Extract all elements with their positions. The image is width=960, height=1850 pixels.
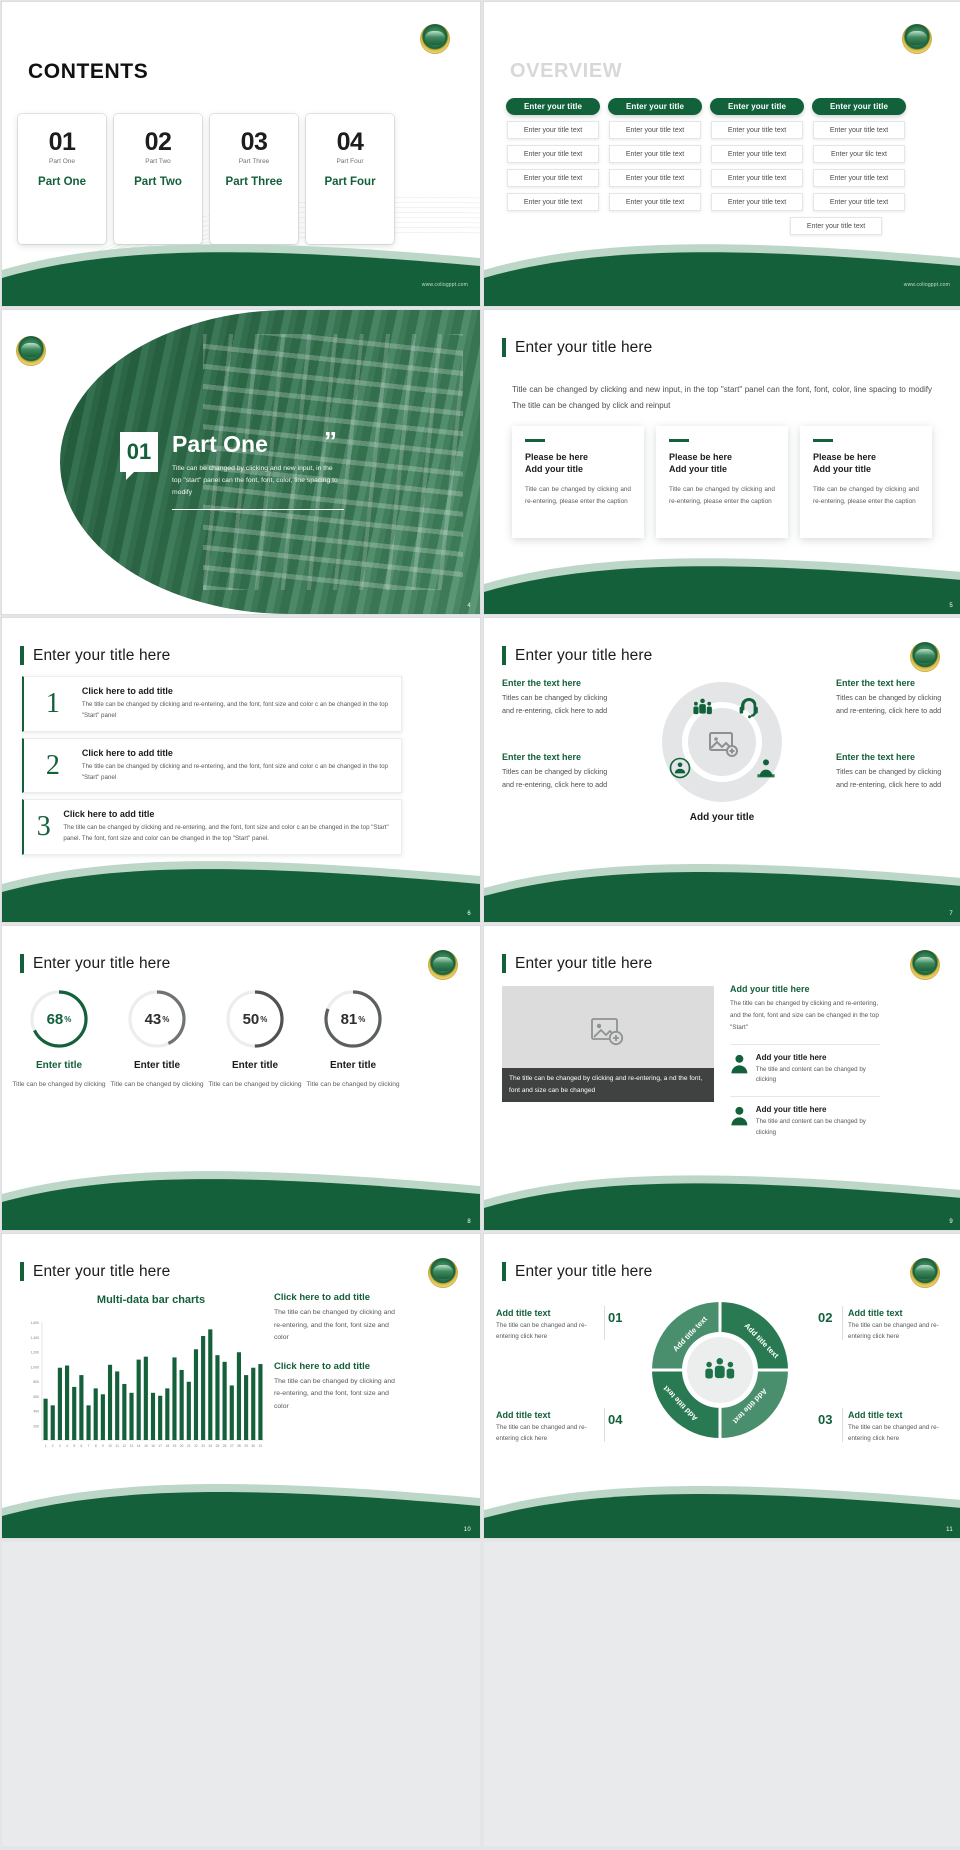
page-number: 11 <box>946 1527 953 1533</box>
callout-title: Add title text <box>496 1410 604 1420</box>
svg-text:1: 1 <box>45 1444 47 1448</box>
page-title: Enter your title here <box>515 339 652 357</box>
card-title: Please be here Add your title <box>813 451 919 475</box>
svg-text:10: 10 <box>108 1444 112 1448</box>
overview-cell[interactable]: Enter your title text <box>790 217 882 235</box>
side-body: The title can be changed by clicking and… <box>274 1376 402 1414</box>
overview-cell[interactable]: Enter your title text <box>507 193 599 211</box>
cycle-number: 04 <box>608 1412 622 1427</box>
side-block[interactable]: Click here to add title The title can be… <box>274 1361 402 1414</box>
segmented-wheel-diagram <box>656 676 788 808</box>
svg-text:9: 9 <box>102 1444 104 1448</box>
side-panel: Click here to add title The title can be… <box>274 1292 402 1413</box>
donut-stat[interactable]: 43% Enter title Title can be changed by … <box>108 988 206 1090</box>
organization-logo-icon <box>420 24 450 54</box>
organization-logo-icon <box>910 642 940 672</box>
item-number: 3 <box>24 813 63 841</box>
donut-value: 50% <box>224 988 286 1050</box>
page-title: Enter your title here <box>515 1263 652 1281</box>
slide-three-cards: Enter your title here Title can be chang… <box>484 310 960 614</box>
donut-body: Title can be changed by clicking <box>206 1079 304 1090</box>
svg-text:6: 6 <box>80 1444 82 1448</box>
svg-text:2: 2 <box>52 1444 54 1448</box>
slide-circle-icons: Enter your title here Enter the text her… <box>484 618 960 922</box>
callout-body: The title can be changed and re-entering… <box>496 1321 604 1342</box>
svg-text:16: 16 <box>151 1444 155 1448</box>
page-title: Enter your title here <box>33 955 170 973</box>
svg-text:15: 15 <box>144 1444 148 1448</box>
slide-contents: CONTENTS 01 Part One Part One 02 Part Tw… <box>2 2 480 306</box>
side-block[interactable]: Click here to add title The title can be… <box>274 1292 402 1345</box>
title-accent-bar <box>502 338 506 357</box>
image-placeholder-icon <box>591 1018 625 1046</box>
card-body: Title can be changed by clicking and re-… <box>813 484 919 508</box>
wave-footer <box>484 1160 960 1230</box>
page-title-group: Enter your title here <box>502 646 652 665</box>
divider <box>842 1306 843 1340</box>
svg-text:11: 11 <box>116 1444 120 1448</box>
cycle-callout-4[interactable]: Add title text The title can be changed … <box>496 1410 604 1444</box>
list-item[interactable]: 2 Click here to add title The title can … <box>22 738 402 794</box>
svg-text:14: 14 <box>137 1444 141 1448</box>
slide-overview: OVERVIEW Enter your title Enter your tit… <box>484 2 960 306</box>
contents-card-list: 01 Part One Part One 02 Part Two Part Tw… <box>18 114 394 244</box>
overview-cell[interactable]: Enter your title text <box>711 169 803 187</box>
svg-text:12: 12 <box>123 1444 127 1448</box>
svg-text:13: 13 <box>130 1444 134 1448</box>
donut-value: 43% <box>126 988 188 1050</box>
wave-footer <box>2 236 480 306</box>
donut-ring: 81% <box>322 988 384 1050</box>
slide-cycle-diagram: Enter your title here Add title text Add… <box>484 1234 960 1538</box>
card-label: Part One <box>18 176 106 188</box>
title-accent-bar <box>20 646 24 665</box>
svg-text:29: 29 <box>244 1444 248 1448</box>
svg-text:7: 7 <box>88 1444 90 1448</box>
svg-text:28: 28 <box>237 1444 241 1448</box>
feature-block-bottom-left[interactable]: Enter the text here Titles can be change… <box>502 752 610 792</box>
overview-column: Enter your title Enter your title text E… <box>812 98 906 235</box>
svg-text:18: 18 <box>166 1444 170 1448</box>
list-item[interactable]: 1 Click here to add title The title can … <box>22 676 402 732</box>
page-number: 9 <box>949 1219 953 1225</box>
page-number: 8 <box>467 1219 471 1225</box>
feature-body: Titles can be changed by clicking and re… <box>836 691 944 718</box>
organization-logo-icon <box>428 950 458 980</box>
overview-columns: Enter your title Enter your title text E… <box>506 98 906 235</box>
image-caption: The title can be changed by clicking and… <box>502 1068 714 1102</box>
donut-title: Enter title <box>108 1060 206 1071</box>
svg-text:600: 600 <box>33 1395 39 1399</box>
section-heading: Part One <box>172 432 344 456</box>
card-body: Title can be changed by clicking and re-… <box>525 484 631 508</box>
cycle-callout-1[interactable]: Add title text The title can be changed … <box>496 1308 604 1342</box>
card-number: 03 <box>210 130 298 155</box>
cycle-number: 03 <box>818 1412 832 1427</box>
donut-body: Title can be changed by clicking <box>304 1079 402 1090</box>
page-title-group: Enter your title here <box>20 646 170 665</box>
donut-title: Enter title <box>10 1060 108 1071</box>
svg-text:8: 8 <box>95 1444 97 1448</box>
item-title: Add your title here <box>756 1053 880 1062</box>
svg-text:1,600: 1,600 <box>31 1321 40 1325</box>
item-body: The title and content can be changed by … <box>756 1117 880 1139</box>
divider <box>604 1408 605 1442</box>
chart-title: Multi-data bar charts <box>36 1294 266 1306</box>
side-body: The title can be changed by clicking and… <box>274 1307 402 1345</box>
side-title: Click here to add title <box>274 1292 402 1303</box>
item-body: The title can be changed by clicking and… <box>63 823 391 845</box>
page-number: 5 <box>949 603 953 609</box>
wave-footer <box>484 1468 960 1538</box>
info-card[interactable]: Please be here Add your title Title can … <box>800 426 932 538</box>
page-number: 10 <box>464 1527 471 1533</box>
donut-title: Enter title <box>304 1060 402 1071</box>
item-body: The title and content can be changed by … <box>756 1065 880 1087</box>
overview-cell[interactable]: Enter your title text <box>813 193 905 211</box>
overview-cell[interactable]: Enter your title text <box>609 145 701 163</box>
slide-part-one-cover: 01 Part One Title can be changed by clic… <box>2 310 480 614</box>
side-panel: Add your title here The title can be cha… <box>730 984 880 1139</box>
overview-cell[interactable]: Enter your title text <box>507 145 599 163</box>
side-body: The title can be changed by clicking and… <box>730 998 880 1034</box>
callout-body: The title can be changed and re-entering… <box>496 1423 604 1444</box>
cycle-callout-2[interactable]: Add title text The title can be changed … <box>848 1308 956 1342</box>
svg-text:25: 25 <box>216 1444 220 1448</box>
svg-text:21: 21 <box>187 1444 191 1448</box>
overview-cell[interactable]: Enter your title text <box>711 145 803 163</box>
side-title: Click here to add title <box>274 1361 402 1372</box>
slide-image-list: Enter your title here The title can be c… <box>484 926 960 1230</box>
card-body: Title can be changed by clicking and re-… <box>669 484 775 508</box>
feature-block-top-right[interactable]: Enter the text here Titles can be change… <box>836 678 944 718</box>
svg-text:200: 200 <box>33 1424 39 1428</box>
overview-column: Enter your title Enter your title text E… <box>710 98 804 235</box>
bar-chart: 1,6001,4001,2001,00080060040020012345678… <box>16 1318 266 1463</box>
page-title: Enter your title here <box>515 647 652 665</box>
svg-text:4: 4 <box>66 1444 68 1448</box>
card-label: Part Four <box>306 176 394 188</box>
page-title: Enter your title here <box>33 647 170 665</box>
column-header-pill[interactable]: Enter your title <box>506 98 600 115</box>
overview-cell[interactable]: Enter your title text <box>609 169 701 187</box>
site-url: www.coliogppt.com <box>904 282 950 288</box>
svg-text:22: 22 <box>194 1444 198 1448</box>
donut-body: Title can be changed by clicking <box>108 1079 206 1090</box>
overview-cell[interactable]: Enter your title text <box>609 121 701 139</box>
page-title-group: Enter your title here <box>502 954 652 973</box>
item-number: 1 <box>24 690 82 718</box>
svg-text:20: 20 <box>180 1444 184 1448</box>
divider <box>604 1306 605 1340</box>
numbered-row-list: 1 Click here to add title The title can … <box>22 676 402 861</box>
wave-footer <box>2 1160 480 1230</box>
item-body: The title can be changed by clicking and… <box>82 762 391 784</box>
page-title-group: Enter your title here <box>20 954 170 973</box>
wave-footer <box>2 852 480 922</box>
card-title: Please be here Add your title <box>525 451 631 475</box>
svg-text:19: 19 <box>173 1444 177 1448</box>
divider <box>172 509 344 510</box>
feature-body: Titles can be changed by clicking and re… <box>502 765 610 792</box>
wave-footer <box>484 236 960 306</box>
section-body: Title can be changed by clicking and new… <box>172 463 340 499</box>
svg-text:1,400: 1,400 <box>31 1336 40 1340</box>
card-number: 04 <box>306 130 394 155</box>
feature-block-top-left[interactable]: Enter the text here Titles can be change… <box>502 678 610 718</box>
card-accent-dash <box>525 439 545 442</box>
column-header-pill[interactable]: Enter your title <box>710 98 804 115</box>
overview-column: Enter your title Enter your title text E… <box>506 98 600 235</box>
svg-text:5: 5 <box>73 1444 75 1448</box>
callout-title: Add title text <box>496 1308 604 1318</box>
page-number: 4 <box>467 603 471 609</box>
section-number-badge: 01 <box>120 432 158 472</box>
slide-numbered-list: Enter your title here 1 Click here to ad… <box>2 618 480 922</box>
svg-text:1,000: 1,000 <box>31 1365 40 1369</box>
card-number: 02 <box>114 130 202 155</box>
page-title-group: Enter your title here <box>20 1262 170 1281</box>
svg-text:30: 30 <box>251 1444 255 1448</box>
cycle-diagram: Add title text Add title text Add title … <box>636 1290 804 1450</box>
organization-logo-icon <box>16 336 46 366</box>
list-item[interactable]: Add your title here The title and conten… <box>730 1096 880 1139</box>
page-title: OVERVIEW <box>510 60 622 83</box>
wave-footer <box>484 544 960 614</box>
donut-ring: 43% <box>126 988 188 1050</box>
list-item[interactable]: 3 Click here to add title The title can … <box>22 799 402 855</box>
page-title-group: Enter your title here <box>502 1262 652 1281</box>
organization-logo-icon <box>910 950 940 980</box>
divider <box>842 1408 843 1442</box>
person-icon <box>730 1105 749 1127</box>
page-number: 6 <box>467 911 471 917</box>
quote-mark-icon: ” <box>324 434 337 450</box>
contents-card[interactable]: 01 Part One Part One <box>18 114 106 244</box>
page-title: Enter your title here <box>515 955 652 973</box>
donut-stat[interactable]: 50% Enter title Title can be changed by … <box>206 988 304 1090</box>
svg-text:31: 31 <box>259 1444 263 1448</box>
wave-footer <box>484 852 960 922</box>
overview-cell[interactable]: Enter your title text <box>813 169 905 187</box>
wave-footer <box>2 1468 480 1538</box>
donut-value: 81% <box>322 988 384 1050</box>
card-subtitle: Part Two <box>114 158 202 165</box>
item-title: Click here to add title <box>63 809 391 819</box>
overview-cell[interactable]: Enter your title text <box>507 121 599 139</box>
svg-text:26: 26 <box>223 1444 227 1448</box>
column-header-pill[interactable]: Enter your title <box>608 98 702 115</box>
item-number: 2 <box>24 752 82 780</box>
organization-logo-icon <box>428 1258 458 1288</box>
donut-body: Title can be changed by clicking <box>10 1079 108 1090</box>
svg-text:23: 23 <box>201 1444 205 1448</box>
donut-stat[interactable]: 68% Enter title Title can be changed by … <box>10 988 108 1090</box>
overview-cell[interactable]: Enter your title text <box>711 193 803 211</box>
info-card[interactable]: Please be here Add your title Title can … <box>656 426 788 538</box>
column-header-pill[interactable]: Enter your title <box>812 98 906 115</box>
title-accent-bar <box>20 954 24 973</box>
overview-column: Enter your title Enter your title text E… <box>608 98 702 235</box>
svg-text:400: 400 <box>33 1410 39 1414</box>
cycle-number: 01 <box>608 1310 622 1325</box>
card-list: Please be here Add your title Title can … <box>512 426 932 538</box>
site-url: www.coliogppt.com <box>422 282 468 288</box>
cycle-callout-3[interactable]: Add title text The title can be changed … <box>848 1410 956 1444</box>
page-title: CONTENTS <box>28 60 148 84</box>
callout-body: The title can be changed and re-entering… <box>848 1423 956 1444</box>
feature-title: Enter the text here <box>836 678 944 688</box>
card-title: Please be here Add your title <box>669 451 775 475</box>
overview-cell[interactable]: Enter your tilc text <box>813 145 905 163</box>
donut-title: Enter title <box>206 1060 304 1071</box>
donut-ring: 68% <box>28 988 90 1050</box>
cycle-number: 02 <box>818 1310 832 1325</box>
card-label: Part Two <box>114 176 202 188</box>
empty-slot <box>484 1542 960 1846</box>
contents-card[interactable]: 02 Part Two Part Two <box>114 114 202 244</box>
donut-ring: 50% <box>224 988 286 1050</box>
list-item[interactable]: Add your title here The title and conten… <box>730 1044 880 1087</box>
item-body: The title can be changed by clicking and… <box>82 700 391 722</box>
svg-text:24: 24 <box>209 1444 213 1448</box>
svg-text:27: 27 <box>230 1444 234 1448</box>
slide-donut-stats: Enter your title here 68% Enter title Ti… <box>2 926 480 1230</box>
callout-body: The title can be changed and re-entering… <box>848 1321 956 1342</box>
contents-card[interactable]: 04 Part Four Part Four <box>306 114 394 244</box>
organization-logo-icon <box>910 1258 940 1288</box>
feature-body: Titles can be changed by clicking and re… <box>502 691 610 718</box>
contents-card[interactable]: 03 Part Three Part Three <box>210 114 298 244</box>
feature-title: Enter the text here <box>836 752 944 762</box>
feature-body: Titles can be changed by clicking and re… <box>836 765 944 792</box>
item-title: Click here to add title <box>82 748 391 758</box>
overview-cell[interactable]: Enter your title text <box>507 169 599 187</box>
cover-text-block: 01 Part One Title can be changed by clic… <box>120 432 344 510</box>
item-title: Add your title here <box>756 1105 880 1114</box>
card-number: 01 <box>18 130 106 155</box>
organization-logo-icon <box>902 24 932 54</box>
card-subtitle: Part Three <box>210 158 298 165</box>
overview-cell[interactable]: Enter your title text <box>609 193 701 211</box>
lead-paragraph: Title can be changed by clicking and new… <box>512 382 932 414</box>
donut-stat[interactable]: 81% Enter title Title can be changed by … <box>304 988 402 1090</box>
page-title-group: Enter your title here <box>502 338 652 357</box>
feature-block-bottom-right[interactable]: Enter the text here Titles can be change… <box>836 752 944 792</box>
card-subtitle: Part One <box>18 158 106 165</box>
card-accent-dash <box>669 439 689 442</box>
title-accent-bar <box>502 646 506 665</box>
page-title: Enter your title here <box>33 1263 170 1281</box>
empty-slot <box>2 1542 480 1846</box>
title-accent-bar <box>502 954 506 973</box>
side-title: Add your title here <box>730 984 880 994</box>
card-subtitle: Part Four <box>306 158 394 165</box>
svg-text:1,200: 1,200 <box>31 1351 40 1355</box>
slide-deck: CONTENTS 01 Part One Part One 02 Part Tw… <box>0 0 960 1850</box>
feature-title: Enter the text here <box>502 678 610 688</box>
svg-text:17: 17 <box>158 1444 162 1448</box>
item-title: Click here to add title <box>82 686 391 696</box>
page-number: 7 <box>949 911 953 917</box>
info-card[interactable]: Please be here Add your title Title can … <box>512 426 644 538</box>
overview-cell[interactable]: Enter your title text <box>813 121 905 139</box>
title-accent-bar <box>20 1262 24 1281</box>
title-accent-bar <box>502 1262 506 1281</box>
person-icon <box>730 1053 749 1075</box>
donut-value: 68% <box>28 988 90 1050</box>
overview-cell[interactable]: Enter your title text <box>711 121 803 139</box>
donut-list: 68% Enter title Title can be changed by … <box>10 988 402 1090</box>
callout-title: Add title text <box>848 1308 956 1318</box>
svg-text:3: 3 <box>59 1444 61 1448</box>
card-accent-dash <box>813 439 833 442</box>
feature-title: Enter the text here <box>502 752 610 762</box>
slide-bar-chart: Enter your title here Multi-data bar cha… <box>2 1234 480 1538</box>
card-label: Part Three <box>210 176 298 188</box>
svg-text:800: 800 <box>33 1380 39 1384</box>
callout-title: Add title text <box>848 1410 956 1420</box>
wheel-center-label: Add your title <box>656 812 788 823</box>
